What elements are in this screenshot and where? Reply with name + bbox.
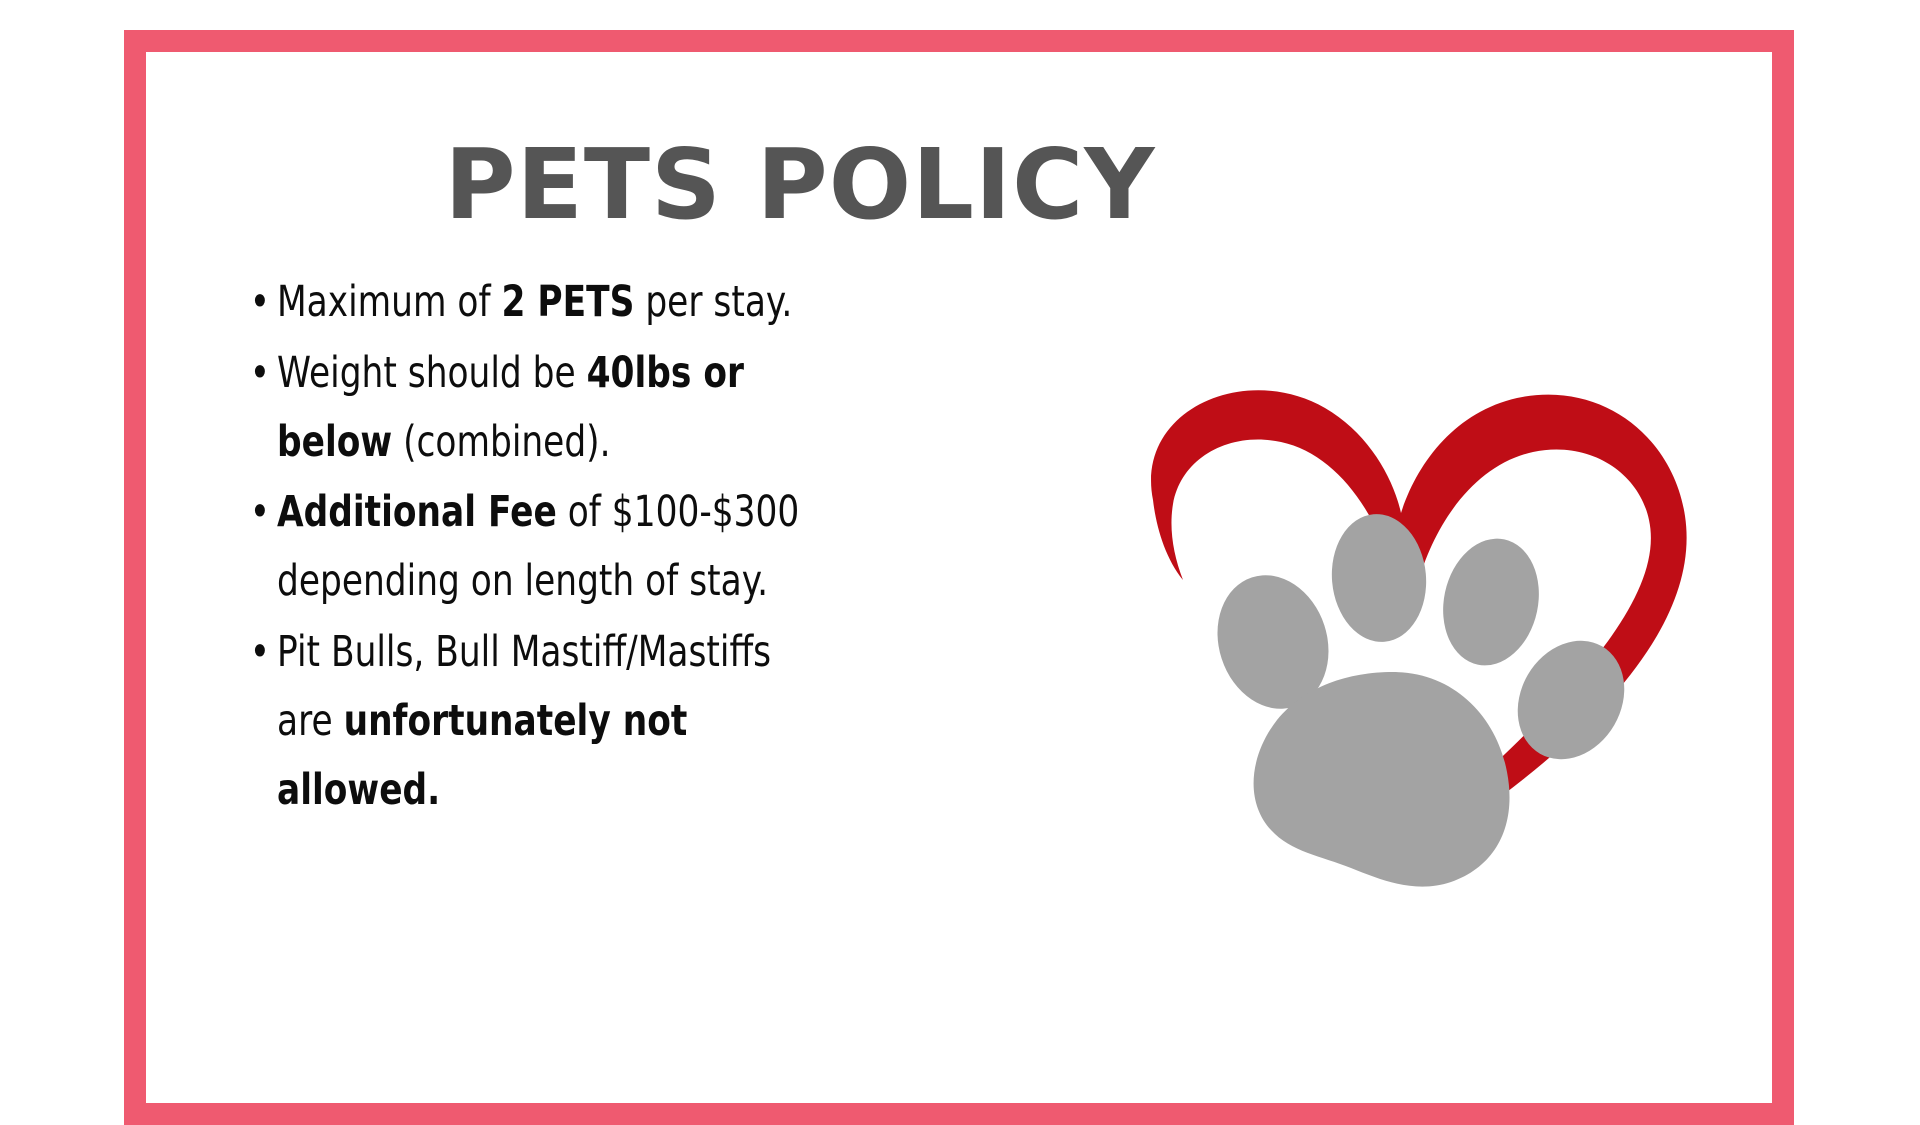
bullet-dot-icon: •	[250, 478, 270, 547]
paw-print-icon	[1201, 510, 1646, 886]
bullet-dot-icon: •	[250, 268, 270, 337]
list-item: • Pit Bulls, Bull Mastiff/Mastiffs are u…	[245, 618, 805, 824]
list-item-text: Weight should be 40lbs or below (combine…	[277, 339, 805, 477]
run-bold: Additional Fee	[277, 487, 557, 537]
list-item: • Maximum of 2 PETS per stay.	[245, 268, 805, 337]
page-title: PETS POLICY	[160, 136, 1440, 233]
heart-paw-logo	[1125, 380, 1705, 940]
list-item: • Additional Fee of $100-$300 depending …	[245, 478, 805, 616]
run-regular: Weight should be	[277, 348, 587, 398]
list-item: • Weight should be 40lbs or below (combi…	[245, 339, 805, 477]
run-regular: (combined).	[392, 417, 610, 467]
run-regular: Maximum of	[277, 277, 502, 327]
list-item-text: Maximum of 2 PETS per stay.	[277, 268, 805, 337]
bullet-dot-icon: •	[250, 618, 270, 687]
run-regular: per stay.	[634, 277, 792, 327]
policy-bullet-list: • Maximum of 2 PETS per stay. • Weight s…	[245, 268, 805, 826]
list-item-text: Additional Fee of $100-$300 depending on…	[277, 478, 805, 616]
bullet-dot-icon: •	[250, 339, 270, 408]
pets-policy-poster: PETS POLICY • Maximum of 2 PETS per stay…	[0, 0, 1920, 1080]
run-bold: 2 PETS	[502, 277, 635, 327]
list-item-text: Pit Bulls, Bull Mastiff/Mastiffs are unf…	[277, 618, 805, 824]
